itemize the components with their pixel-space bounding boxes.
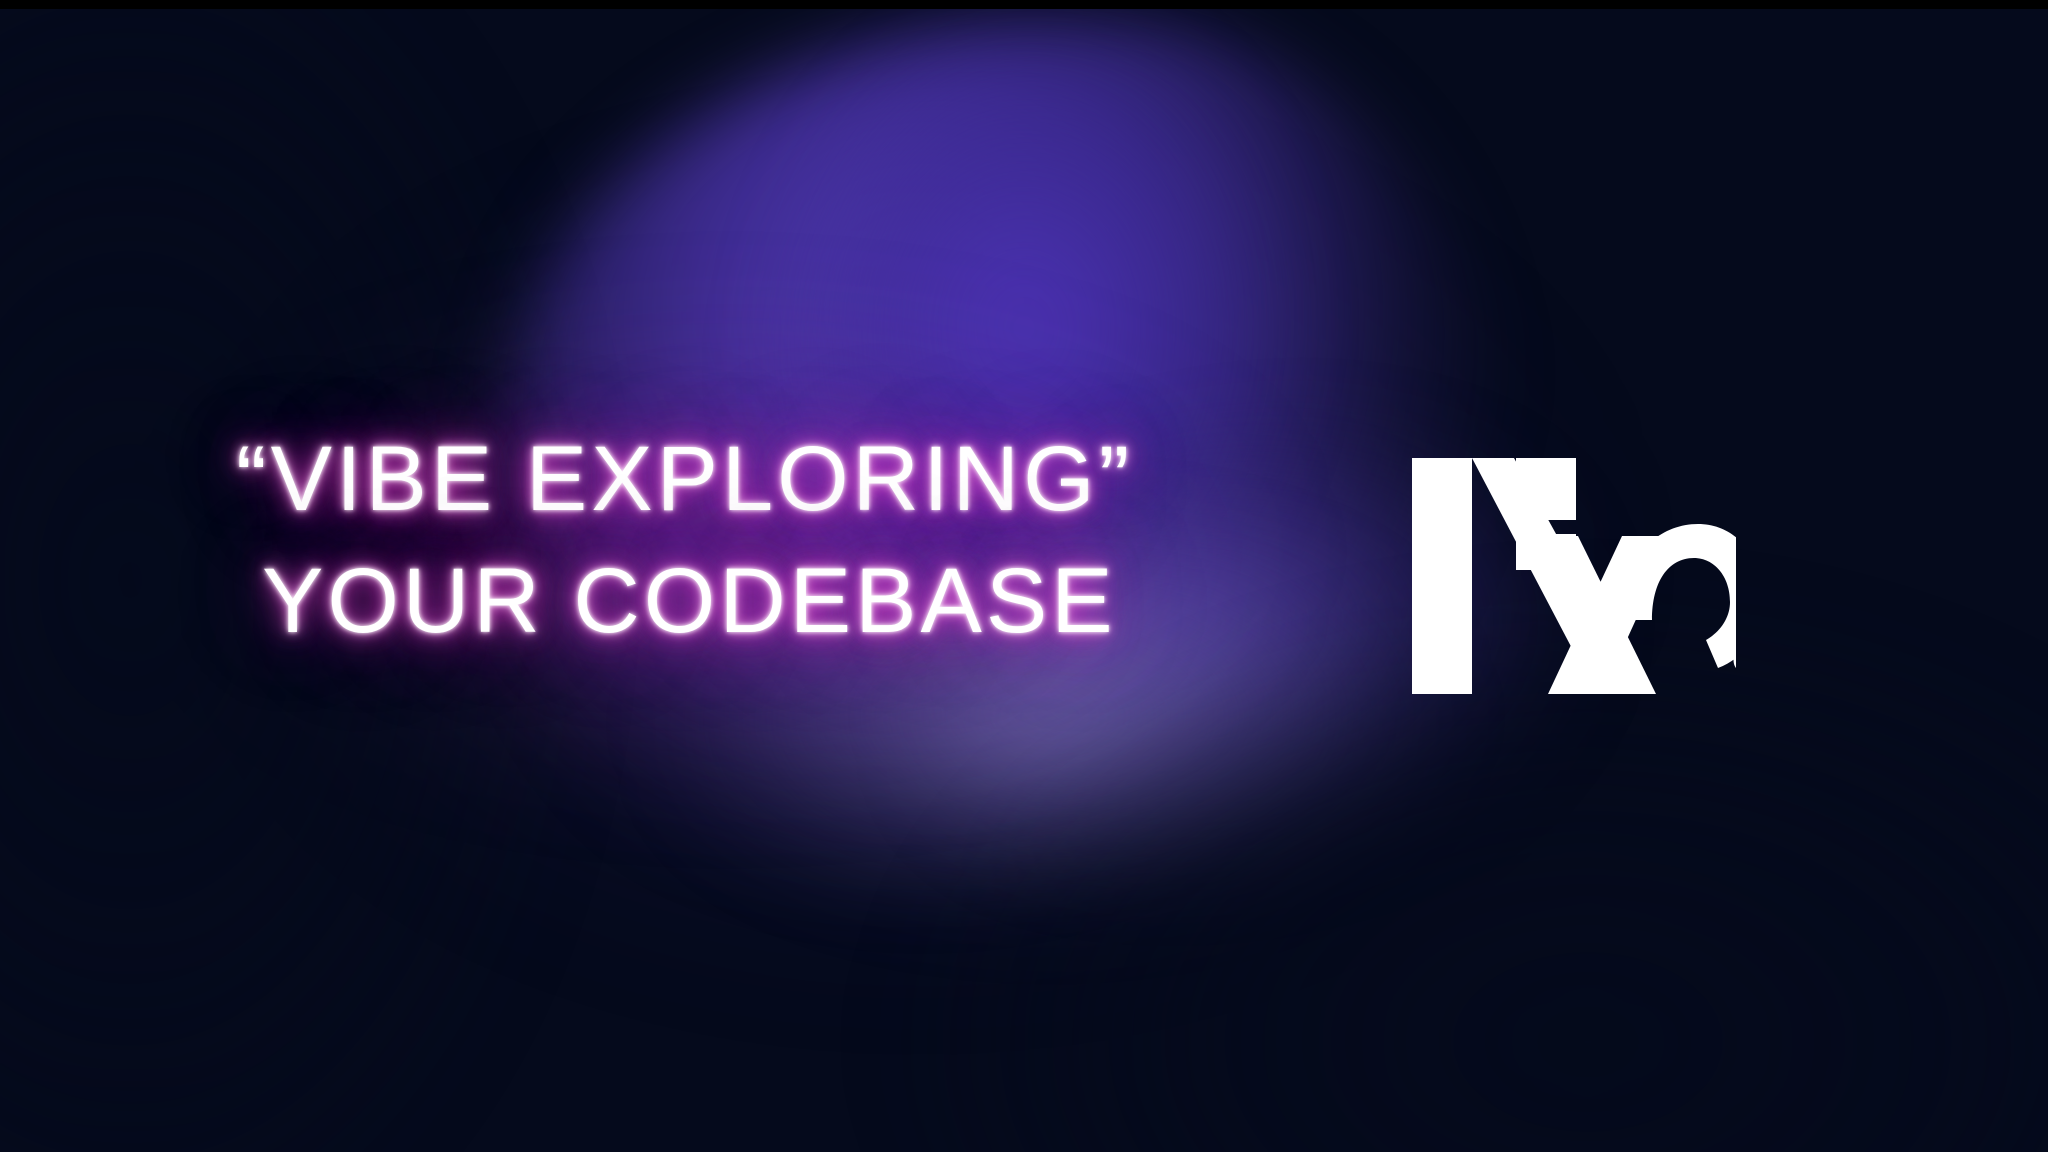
nx-logo-glyphs bbox=[1412, 458, 1736, 694]
headline-line-1: “VIBE EXPLORING” bbox=[236, 418, 1296, 540]
letterbox-bar bbox=[0, 0, 2048, 9]
nx-logo bbox=[1406, 452, 1736, 700]
headline-line-2: YOUR CODEBASE bbox=[236, 540, 1296, 662]
headline-block: “VIBE EXPLORING” YOUR CODEBASE bbox=[236, 418, 1296, 662]
slide-canvas: “VIBE EXPLORING” YOUR CODEBASE bbox=[0, 0, 2048, 1152]
